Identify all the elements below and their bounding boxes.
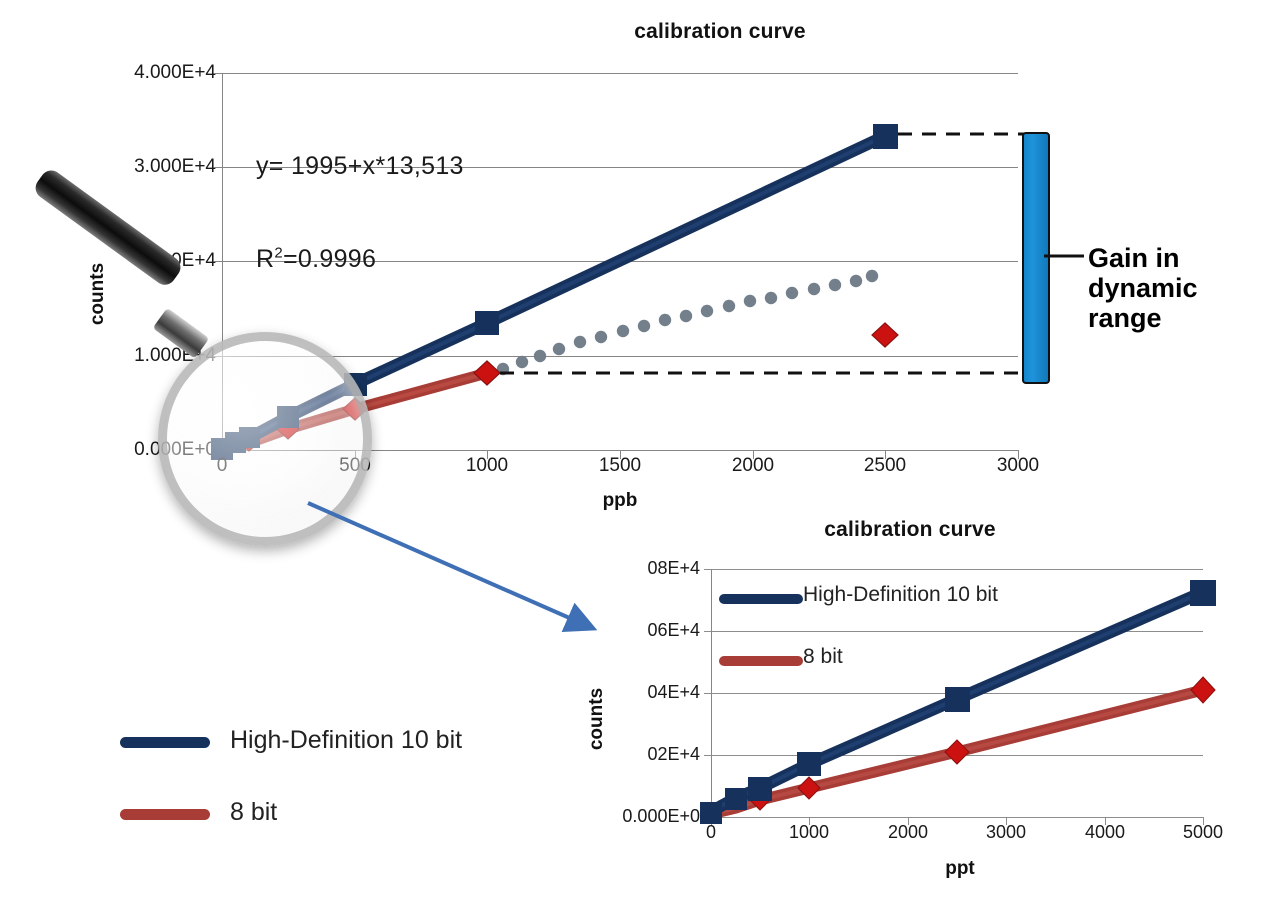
gain-bracket-tick-icon — [1044, 248, 1090, 264]
inset-xtick-label-3000: 3000 — [976, 822, 1036, 843]
main-xtick-label-1000: 1000 — [457, 455, 517, 477]
inset-legend-swatch-8bit — [719, 656, 803, 666]
inset-plot-area: High-Definition 10 bit 8 bit — [711, 569, 1203, 817]
figure-canvas: calibration curve counts 4.000E+4 3.000E… — [0, 0, 1280, 914]
inset-ytick-mark-4 — [704, 569, 711, 570]
inset-xtick-label-4000: 4000 — [1075, 822, 1135, 843]
inset-ytick-mark-2 — [704, 693, 711, 694]
inset-ytick-label-1: 02E+4 — [600, 744, 700, 765]
main-xtick-label-2500: 2500 — [855, 455, 915, 477]
inset-x-axis-title: ppt — [900, 858, 1020, 880]
main-legend-label-hd10bit: High-Definition 10 bit — [230, 726, 462, 755]
inset-xtick-label-1000: 1000 — [779, 822, 839, 843]
main-legend-swatch-8bit — [120, 809, 210, 820]
inset-legend-label-hd10bit: High-Definition 10 bit — [803, 583, 998, 607]
main-xtick-label-3000: 3000 — [988, 455, 1048, 477]
inset-ytick-label-4: 08E+4 — [600, 558, 700, 579]
main-xtick-label-2000: 2000 — [723, 455, 783, 477]
magnifier-handle — [31, 166, 185, 289]
main-legend-item-8bit: 8 bit — [120, 798, 540, 832]
inset-ytick-mark-3 — [704, 631, 711, 632]
inset-legend-swatch-hd10bit — [719, 594, 803, 604]
gain-annotation-label: Gain in dynamic range — [1088, 243, 1268, 334]
main-xtick-label-1500: 1500 — [590, 455, 650, 477]
gain-label-line-2: dynamic — [1088, 273, 1268, 303]
inset-ytick-label-3: 06E+4 — [600, 620, 700, 641]
callout-arrow-icon — [300, 495, 630, 645]
inset-legend: High-Definition 10 bit 8 bit — [719, 585, 1069, 685]
gain-label-line-1: Gain in — [1088, 243, 1268, 273]
main-legend: High-Definition 10 bit 8 bit — [120, 720, 540, 830]
main-legend-swatch-hd10bit — [120, 737, 210, 748]
inset-ytick-mark-1 — [704, 755, 711, 756]
inset-ytick-label-2: 04E+4 — [600, 682, 700, 703]
main-legend-label-8bit: 8 bit — [230, 798, 277, 827]
magnifier-collar — [153, 308, 210, 359]
magnifying-glass-icon — [0, 0, 380, 530]
inset-xtick-label-2000: 2000 — [878, 822, 938, 843]
inset-legend-label-8bit: 8 bit — [803, 645, 843, 669]
main-chart-title: calibration curve — [500, 20, 940, 44]
main-legend-item-hd10bit: High-Definition 10 bit — [120, 726, 540, 760]
series-8bit-isolated-point — [872, 323, 898, 347]
gain-label-line-3: range — [1088, 303, 1268, 333]
inset-legend-item-hd10bit: High-Definition 10 bit — [719, 585, 1069, 615]
inset-chart-title: calibration curve — [690, 518, 1130, 542]
inset-xtick-label-5000: 5000 — [1173, 822, 1233, 843]
inset-axis-x — [711, 817, 1203, 818]
inset-xtick-label-0: 0 — [681, 822, 741, 843]
inset-legend-item-8bit: 8 bit — [719, 647, 1069, 677]
